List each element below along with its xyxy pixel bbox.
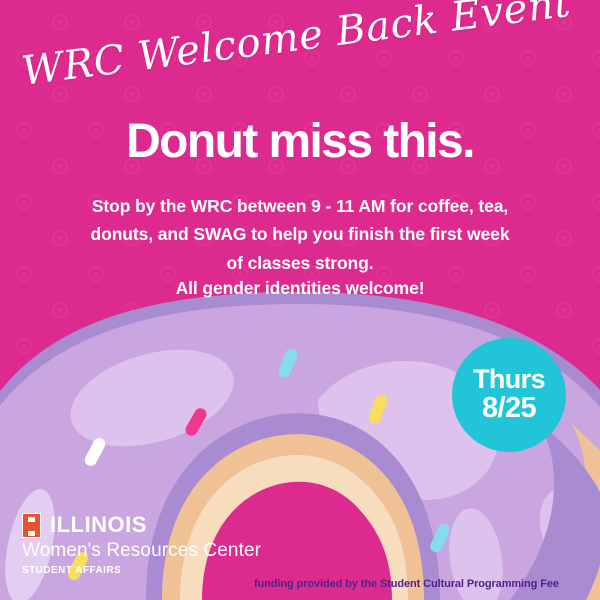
- body-copy: Stop by the WRC between 9 - 11 AM for co…: [88, 192, 512, 277]
- logo-division: STUDENT AFFAIRS: [22, 565, 261, 576]
- date-badge-date: 8/25: [482, 394, 536, 424]
- date-badge-day: Thurs: [473, 366, 545, 394]
- illinois-block-i-icon: [22, 513, 41, 538]
- date-badge: Thurs 8/25: [452, 338, 566, 452]
- logo-unit-name: Women's Resources Center: [22, 540, 261, 562]
- logo-wordmark: ILLINOIS: [50, 512, 147, 538]
- inclusivity-note: All gender identities welcome!: [88, 278, 512, 299]
- event-poster: WRC Welcome Back Event Donut miss this. …: [0, 0, 600, 600]
- funding-note: funding provided by the Student Cultural…: [254, 578, 559, 590]
- logo-lockup: ILLINOIS: [22, 512, 261, 538]
- page-title: Donut miss this.: [0, 118, 600, 166]
- donut-illustration: [0, 0, 600, 600]
- illinois-wrc-logo: ILLINOIS Women's Resources Center STUDEN…: [22, 512, 261, 576]
